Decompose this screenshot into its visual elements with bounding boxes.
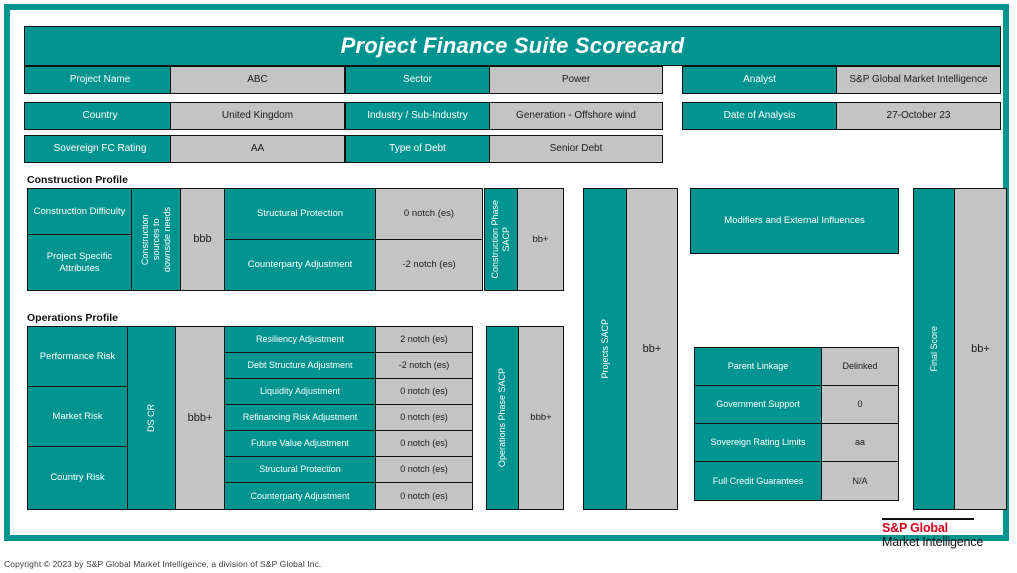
operations-adjustment-label-structural-protection[interactable]: Structural Protection: [224, 456, 376, 483]
operations-phase-sacp-value[interactable]: bbb+: [518, 326, 564, 510]
sp-global-logo: S&P Global Market Intelligence: [882, 518, 992, 550]
field-label-industry: Industry / Sub-Industry: [345, 102, 490, 130]
modifier-label-full-credit-guarantees[interactable]: Full Credit Guarantees: [694, 461, 822, 501]
modifier-value-full-credit-guarantees[interactable]: N/A: [821, 461, 899, 501]
field-label-sovereign-fc-rating: Sovereign FC Rating: [24, 135, 176, 163]
construction-preliminary-score[interactable]: bbb: [180, 188, 225, 291]
field-value-date-of-analysis[interactable]: 27-October 23: [836, 102, 1001, 130]
modifiers-title: Modifiers and External Influences: [690, 188, 899, 254]
operations-adjustment-value-counterparty[interactable]: 0 notch (es): [375, 482, 473, 510]
modifier-label-sovereign-rating-limits[interactable]: Sovereign Rating Limits: [694, 423, 822, 462]
construction-profile-caption: Construction Profile: [27, 174, 128, 186]
construction-adjustment-value-counterparty[interactable]: -2 notch (es): [375, 239, 483, 291]
field-label-date-of-analysis: Date of Analysis: [682, 102, 837, 130]
operations-preliminary-score[interactable]: bbb+: [175, 326, 225, 510]
operations-risk-factor-country[interactable]: Country Risk: [27, 446, 128, 510]
field-value-country[interactable]: United Kingdom: [170, 102, 345, 130]
field-label-project-name: Project Name: [24, 66, 176, 94]
modifier-value-government-support[interactable]: 0: [821, 385, 899, 424]
construction-sources-to-downside-needs[interactable]: Construction sources to downside needs: [131, 188, 181, 291]
logo-line-market-intelligence: Market Intelligence: [882, 535, 992, 550]
logo-rule: [882, 518, 974, 520]
field-value-type-of-debt[interactable]: Senior Debt: [489, 135, 663, 163]
operations-adjustment-label-counterparty[interactable]: Counterparty Adjustment: [224, 482, 376, 510]
field-label-sector: Sector: [345, 66, 490, 94]
construction-risk-factor-project-specific[interactable]: Project Specific Attributes: [27, 234, 132, 291]
operations-adjustment-label-future-value[interactable]: Future Value Adjustment: [224, 430, 376, 457]
field-value-sector[interactable]: Power: [489, 66, 663, 94]
operations-phase-sacp-label[interactable]: Operations Phase SACP: [486, 326, 519, 510]
field-value-project-name[interactable]: ABC: [170, 66, 345, 94]
page-title: Project Finance Suite Scorecard: [24, 26, 1001, 66]
operations-adjustment-label-debt-structure[interactable]: Debt Structure Adjustment: [224, 352, 376, 379]
construction-adjustment-label-counterparty[interactable]: Counterparty Adjustment: [224, 239, 376, 291]
operations-adjustment-value-refinancing-risk[interactable]: 0 notch (es): [375, 404, 473, 431]
operations-profile-caption: Operations Profile: [27, 312, 118, 324]
field-label-analyst: Analyst: [682, 66, 837, 94]
logo-line-sp-global: S&P Global: [882, 521, 992, 535]
construction-phase-sacp-value[interactable]: bb+: [517, 188, 564, 291]
operations-adjustment-value-future-value[interactable]: 0 notch (es): [375, 430, 473, 457]
field-label-type-of-debt: Type of Debt: [345, 135, 490, 163]
field-value-industry[interactable]: Generation - Offshore wind: [489, 102, 663, 130]
projects-sacp-value[interactable]: bb+: [626, 188, 678, 510]
operations-risk-factor-market[interactable]: Market Risk: [27, 386, 128, 447]
operations-risk-factor-performance[interactable]: Performance Risk: [27, 326, 128, 387]
projects-sacp-label[interactable]: Projects SACP: [583, 188, 627, 510]
operations-adjustment-label-resiliency[interactable]: Resiliency Adjustment: [224, 326, 376, 353]
construction-risk-factor-difficulty[interactable]: Construction Difficulty: [27, 188, 132, 235]
modifier-label-parent-linkage[interactable]: Parent Linkage: [694, 347, 822, 386]
modifier-label-government-support[interactable]: Government Support: [694, 385, 822, 424]
final-score-value[interactable]: bb+: [954, 188, 1007, 510]
operations-adjustment-label-liquidity[interactable]: Liquidity Adjustment: [224, 378, 376, 405]
field-value-sovereign-fc-rating[interactable]: AA: [170, 135, 345, 163]
operations-adjustment-value-debt-structure[interactable]: -2 notch (es): [375, 352, 473, 379]
page-title-text: Project Finance Suite Scorecard: [338, 33, 688, 59]
operations-adjustment-value-structural-protection[interactable]: 0 notch (es): [375, 456, 473, 483]
operations-dscr-label[interactable]: DS CR: [127, 326, 176, 510]
copyright-notice: Copyright © 2023 by S&P Global Market In…: [4, 559, 321, 569]
field-value-analyst[interactable]: S&P Global Market Intelligence: [836, 66, 1001, 94]
construction-adjustment-label-structural-protection[interactable]: Structural Protection: [224, 188, 376, 240]
operations-adjustment-value-resiliency[interactable]: 2 notch (es): [375, 326, 473, 353]
construction-adjustment-value-structural-protection[interactable]: 0 notch (es): [375, 188, 483, 240]
scorecard-frame: Project Finance Suite Scorecard Project …: [4, 4, 1009, 541]
operations-adjustment-label-refinancing-risk[interactable]: Refinancing Risk Adjustment: [224, 404, 376, 431]
construction-phase-sacp-label[interactable]: Construction Phase SACP: [484, 188, 518, 291]
modifier-value-parent-linkage[interactable]: Delinked: [821, 347, 899, 386]
field-label-country: Country: [24, 102, 176, 130]
final-score-label[interactable]: Final Score: [913, 188, 955, 510]
operations-adjustment-value-liquidity[interactable]: 0 notch (es): [375, 378, 473, 405]
modifier-value-sovereign-rating-limits[interactable]: aa: [821, 423, 899, 462]
